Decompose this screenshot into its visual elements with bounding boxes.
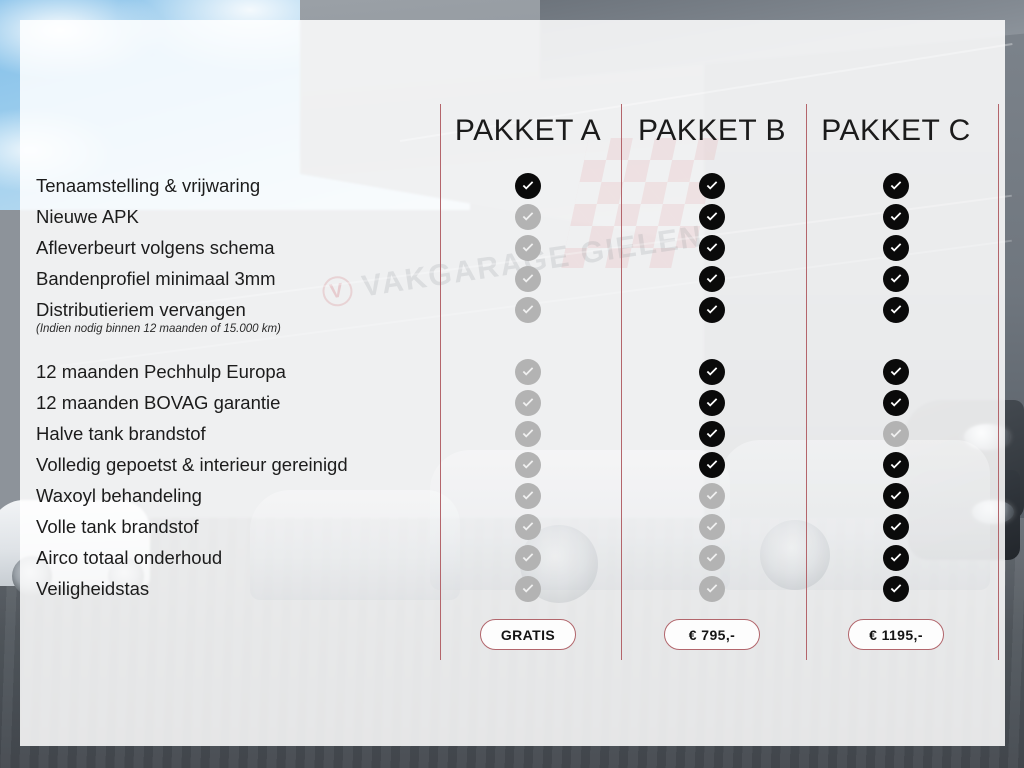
check-included-icon [883,235,909,261]
column-header-c: PAKKET C [776,114,1016,148]
check-excluded-icon [515,452,541,478]
check-included-icon [699,297,725,323]
package-comparison-table: PAKKET APAKKET BPAKKET CTenaamstelling &… [0,0,1024,768]
check-excluded-icon [515,359,541,385]
check-included-icon [883,452,909,478]
check-excluded-icon [515,266,541,292]
check-included-icon [699,452,725,478]
check-excluded-icon [515,390,541,416]
check-included-icon [699,390,725,416]
check-included-icon [883,173,909,199]
feature-label: Tenaamstelling & vrijwaring [36,177,260,196]
feature-label: Nieuwe APK [36,208,139,227]
check-included-icon [699,421,725,447]
check-included-icon [699,235,725,261]
check-included-icon [883,297,909,323]
feature-label: Bandenprofiel minimaal 3mm [36,270,276,289]
check-included-icon [883,204,909,230]
check-excluded-icon [883,421,909,447]
check-included-icon [515,173,541,199]
check-included-icon [699,359,725,385]
check-excluded-icon [515,297,541,323]
check-excluded-icon [699,545,725,571]
feature-label: Distributieriem vervangen [36,301,246,320]
check-included-icon [883,514,909,540]
feature-label: Veiligheidstas [36,580,149,599]
feature-label: Waxoyl behandeling [36,487,202,506]
check-included-icon [883,545,909,571]
check-excluded-icon [515,545,541,571]
check-excluded-icon [515,483,541,509]
check-included-icon [883,266,909,292]
price-badge-a[interactable]: GRATIS [480,619,576,650]
column-divider-2 [621,104,622,660]
check-excluded-icon [699,483,725,509]
feature-note: (Indien nodig binnen 12 maanden of 15.00… [36,324,281,336]
column-divider-1 [440,104,441,660]
check-excluded-icon [515,514,541,540]
check-included-icon [699,204,725,230]
feature-label: Volle tank brandstof [36,518,199,537]
feature-label: 12 maanden BOVAG garantie [36,394,280,413]
feature-label: Airco totaal onderhoud [36,549,222,568]
check-included-icon [883,390,909,416]
feature-label: 12 maanden Pechhulp Europa [36,363,286,382]
check-excluded-icon [515,421,541,447]
feature-label: Afleverbeurt volgens schema [36,239,275,258]
price-badge-b[interactable]: € 795,- [664,619,760,650]
column-divider-4 [998,104,999,660]
column-divider-3 [806,104,807,660]
price-badge-c[interactable]: € 1195,- [848,619,944,650]
feature-label: Halve tank brandstof [36,425,206,444]
check-excluded-icon [515,576,541,602]
check-excluded-icon [515,204,541,230]
check-excluded-icon [515,235,541,261]
check-included-icon [699,266,725,292]
feature-label: Volledig gepoetst & interieur gereinigd [36,456,348,475]
check-excluded-icon [699,514,725,540]
check-included-icon [883,359,909,385]
check-included-icon [699,173,725,199]
check-included-icon [883,483,909,509]
check-excluded-icon [699,576,725,602]
check-included-icon [883,576,909,602]
